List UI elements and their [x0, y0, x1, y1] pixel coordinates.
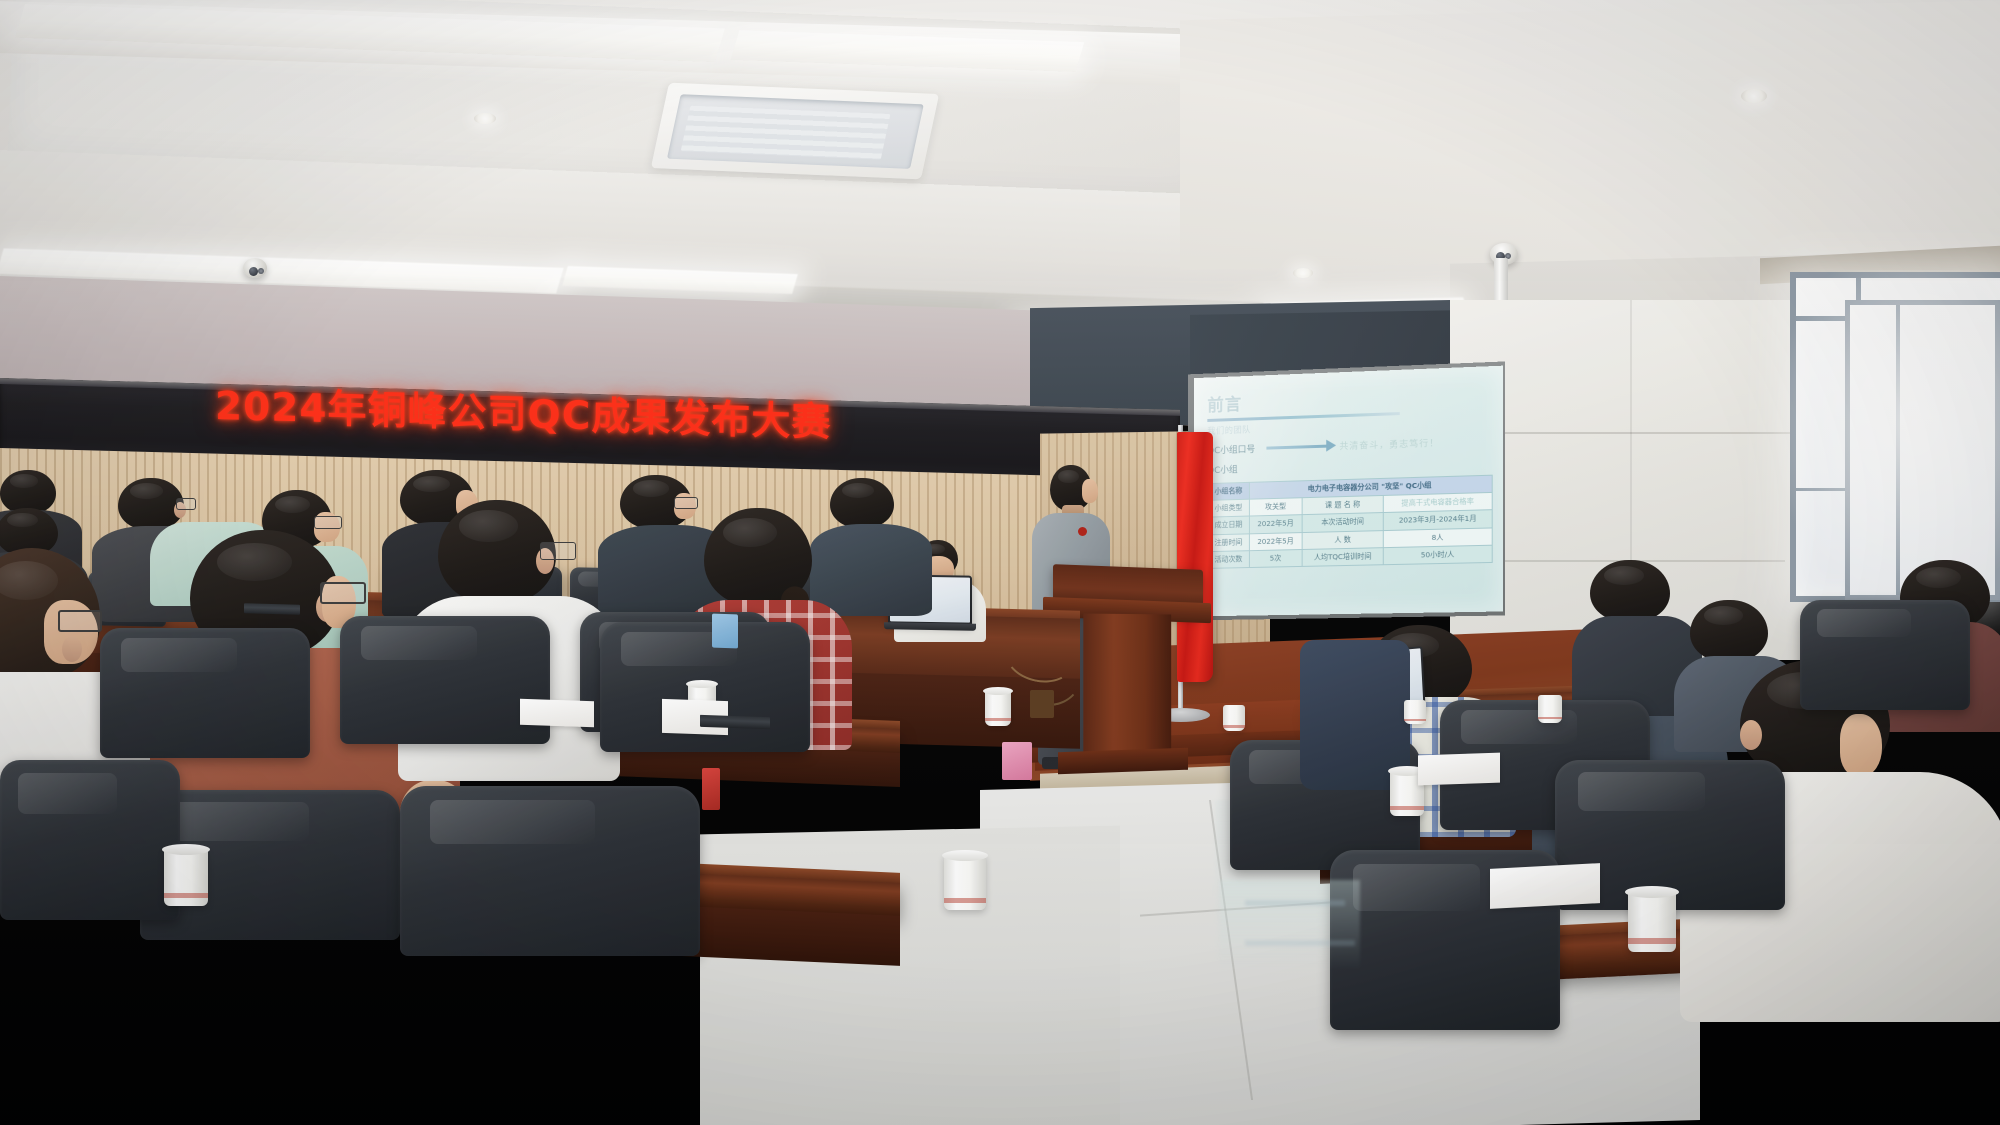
table-cell-label2: 本次活动时间 — [1302, 513, 1383, 532]
chair — [0, 760, 180, 920]
head — [1590, 560, 1670, 622]
glasses-icon — [58, 610, 102, 632]
floor-reflection-line — [1245, 940, 1355, 946]
table-cell-value: 2022年5月 — [1249, 532, 1302, 550]
paper-cup-rim — [983, 687, 1013, 695]
equipment-box — [1030, 690, 1054, 718]
podium-column — [1083, 614, 1171, 766]
table-cell-value: 2022年5月 — [1249, 515, 1302, 534]
paper-cup — [1223, 705, 1245, 731]
slide-group-label: QC小组 — [1207, 454, 1492, 476]
pink-booklet — [1002, 742, 1032, 780]
table-cell-value2: 50小时/人 — [1384, 545, 1493, 565]
table-cell-label: 成立日期 — [1208, 516, 1249, 534]
notebook — [244, 603, 300, 614]
projection-screen: 前言 我们的团队 QC小组口号 共清奋斗，勇志笃行！ QC小组 小组名称 电力电… — [1194, 366, 1503, 617]
ac-grille — [681, 106, 891, 160]
paper-cup — [1538, 695, 1562, 723]
table-cell-label2: 人 数 — [1302, 530, 1383, 549]
notebook — [700, 715, 770, 729]
torso — [810, 524, 932, 616]
head — [1690, 600, 1768, 662]
ceiling-ac-unit — [651, 83, 939, 180]
conference-room-photo: 2024年铜峰公司QC成果发布大赛 前言 我们的团队 QC小组口号 共清奋斗，勇… — [0, 0, 2000, 1125]
papers — [1490, 863, 1600, 909]
floor-reflection-screen — [1220, 880, 1360, 970]
glasses-icon — [540, 542, 576, 560]
podium-base — [1058, 748, 1188, 775]
table-cell-value: 攻关型 — [1249, 498, 1302, 517]
downlight — [474, 113, 496, 124]
chinese-flag — [1177, 432, 1213, 682]
paper-cup — [1404, 700, 1426, 724]
wall-panel-line — [1455, 432, 1815, 434]
slide-slogan-text: 共清奋斗，勇志笃行！ — [1339, 435, 1439, 451]
ear — [1740, 720, 1762, 750]
glasses-icon — [314, 516, 342, 529]
table-cell-label2: 课 题 名 称 — [1302, 495, 1383, 515]
table-cell-label: 小组类型 — [1208, 499, 1249, 517]
chair — [340, 616, 550, 744]
window-mullion — [1896, 305, 1900, 595]
downlight — [1741, 89, 1767, 103]
chair — [1800, 600, 1970, 710]
papers — [1418, 753, 1500, 786]
table-cell-label: 活动次数 — [1208, 551, 1249, 569]
table-cell-label: 小组名称 — [1208, 482, 1249, 500]
table-cell-value: 5次 — [1249, 549, 1302, 567]
head — [830, 478, 894, 528]
glasses-icon — [176, 498, 196, 510]
slide-slogan-row: QC小组口号 共清奋斗，勇志笃行！ — [1207, 434, 1492, 456]
slide-slogan-label: QC小组口号 — [1207, 442, 1255, 456]
paper-cup — [944, 854, 986, 910]
presenter-badge-icon — [1078, 527, 1087, 536]
papers — [520, 699, 594, 728]
blue-booklet — [712, 614, 738, 649]
paper-cup-rim — [162, 844, 210, 855]
head — [118, 478, 184, 530]
presenter-face — [1082, 479, 1098, 503]
chair — [400, 786, 700, 956]
paper-cup — [164, 848, 208, 906]
red-folder — [702, 768, 720, 810]
glasses-icon — [320, 582, 366, 604]
table-cell-label: 注册时间 — [1208, 533, 1249, 551]
face — [1840, 714, 1882, 776]
arrow-right-icon — [1267, 444, 1328, 449]
table-cell-label2: 人均TQC培训时间 — [1302, 548, 1383, 567]
paper-cup — [985, 690, 1011, 726]
paper-cup — [1628, 890, 1676, 952]
downlight — [1293, 268, 1313, 278]
security-camera-icon — [243, 258, 267, 278]
paper-cup-rim — [686, 680, 718, 688]
paper-cup-rim — [942, 850, 988, 861]
qc-info-table: 小组名称 电力电子电容器分公司 "攻坚" QC小组 小组类型 攻关型 课 题 名… — [1207, 474, 1492, 569]
ceiling-right-section — [1180, 0, 2000, 270]
ear — [62, 636, 82, 662]
presentation-slide: 前言 我们的团队 QC小组口号 共清奋斗，勇志笃行！ QC小组 小组名称 电力电… — [1194, 366, 1503, 617]
floor-reflection-line — [1245, 900, 1345, 906]
paper-cup-rim — [1625, 886, 1679, 898]
chair — [100, 628, 310, 758]
window-secondary — [1845, 300, 2000, 600]
glasses-icon — [674, 497, 698, 509]
slide-title: 前言 — [1207, 380, 1492, 416]
